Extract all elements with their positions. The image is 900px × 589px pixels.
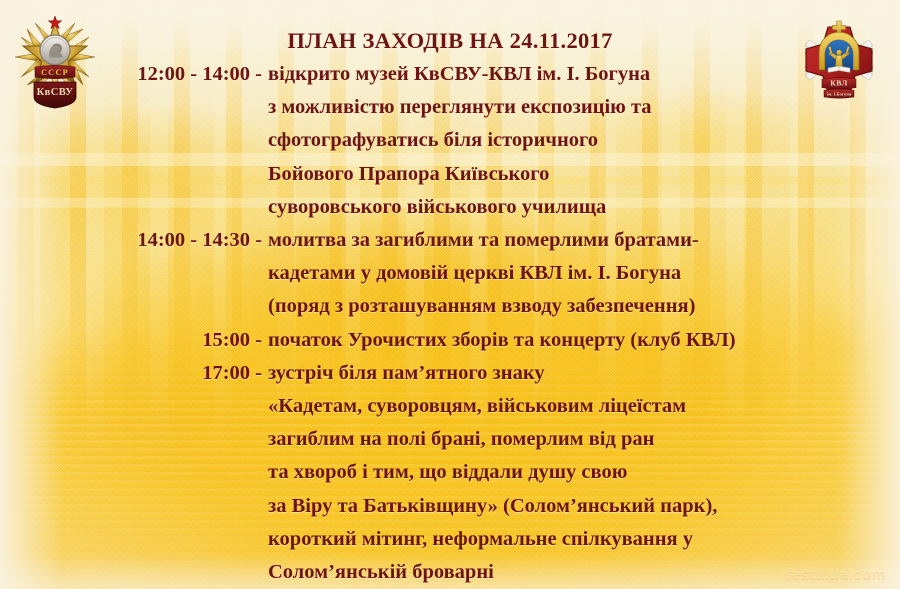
schedule-line: зустріч біля пам’ятного знаку bbox=[268, 357, 900, 390]
svg-text:КВЛ: КВЛ bbox=[830, 79, 847, 88]
schedule-line: Бойового Прапора Київського bbox=[268, 158, 900, 191]
badge-bottom-shield: КвСВУ bbox=[34, 82, 76, 108]
poster-content: ПЛАН ЗАХОДІВ НА 24.11.2017 12:00 - 14:00… bbox=[0, 0, 900, 589]
poster-canvas: ПЛАН ЗАХОДІВ НА 24.11.2017 12:00 - 14:00… bbox=[0, 0, 900, 589]
schedule-line: початок Урочистих зборів та концерту (кл… bbox=[268, 324, 900, 357]
schedule-line: за Віру та Батьківщину» (Солом’янський п… bbox=[268, 490, 900, 523]
schedule-line: «Кадетам, суворовцям, військовим ліцеїст… bbox=[268, 390, 900, 423]
schedule-description: зустріч біля пам’ятного знаку «Кадетам, … bbox=[262, 357, 900, 589]
schedule-row: 15:00 - початок Урочистих зборів та конц… bbox=[0, 324, 900, 357]
schedule-time: 17:00 - bbox=[0, 357, 262, 390]
schedule-line: молитва за загиблими та померлими братам… bbox=[268, 224, 900, 257]
schedule-line: загиблим на полі брані, померлим від ран bbox=[268, 423, 900, 456]
svg-text:ім. І.Богуна: ім. І.Богуна bbox=[827, 92, 852, 97]
schedule-line: (поряд з розташуванням взводу забезпечен… bbox=[268, 290, 900, 323]
schedule-description: молитва за загиблими та померлими братам… bbox=[262, 224, 900, 324]
kvsvu-soviet-badge-icon: СССР КвСВУ bbox=[13, 10, 97, 114]
svg-text:СССР: СССР bbox=[41, 68, 69, 77]
schedule-time: 14:00 - 14:30 - bbox=[0, 224, 262, 257]
kvl-bohun-badge-icon: КВЛ ім. І.Богуна bbox=[793, 14, 885, 110]
schedule-line: та хвороб і тим, що віддали душу свою bbox=[268, 456, 900, 489]
page-title: ПЛАН ЗАХОДІВ НА 24.11.2017 bbox=[0, 28, 900, 54]
schedule-list: 12:00 - 14:00 - відкрито музей КвСВУ-КВЛ… bbox=[0, 58, 900, 589]
badge-name-banner: КВЛ ім. І.Богуна bbox=[822, 78, 856, 98]
schedule-row: 12:00 - 14:00 - відкрито музей КвСВУ-КВЛ… bbox=[0, 58, 900, 224]
schedule-row: 14:00 - 14:30 - молитва за загиблими та … bbox=[0, 224, 900, 324]
schedule-line: кадетами у домовій церкві КВЛ ім. І. Бог… bbox=[268, 257, 900, 290]
schedule-line: короткий мітинг, неформальне спілкування… bbox=[268, 523, 900, 556]
schedule-line: сфотографуватись біля історичного bbox=[268, 124, 900, 157]
badge-emblem-center bbox=[819, 32, 859, 73]
schedule-line: суворовського військового училища bbox=[268, 191, 900, 224]
schedule-row: 17:00 - зустріч біля пам’ятного знаку «К… bbox=[0, 357, 900, 589]
badge-top-banner: СССР bbox=[35, 65, 75, 79]
lenin-medallion-icon bbox=[40, 35, 70, 65]
schedule-time: 15:00 - bbox=[0, 324, 262, 357]
schedule-line: Солом’янській броварні bbox=[268, 556, 900, 589]
schedule-description: початок Урочистих зборів та концерту (кл… bbox=[262, 324, 900, 357]
svg-text:КвСВУ: КвСВУ bbox=[37, 87, 74, 98]
